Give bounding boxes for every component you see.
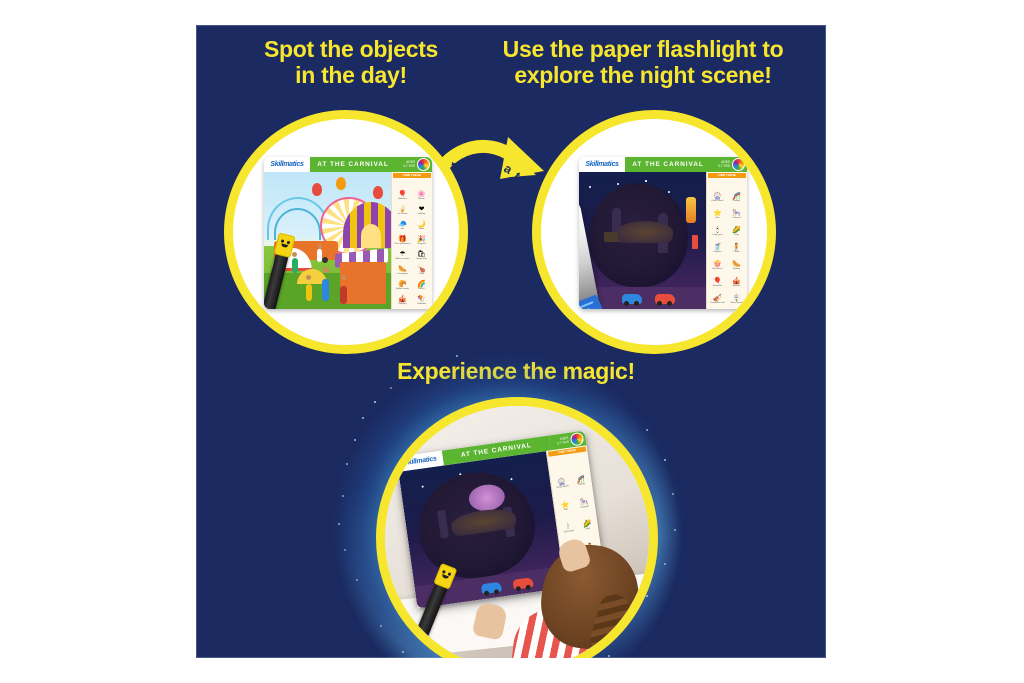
find-icon-item: ☂Ballon counter — [393, 248, 412, 263]
color-wheel-icon — [417, 158, 430, 171]
person-figure — [340, 286, 347, 304]
mat-header-day: Skillmatics AT THE CARNIVAL AGES 3-7 YRS — [264, 157, 432, 172]
hat-icon: 🧢 — [398, 221, 407, 228]
sparkle-dot — [362, 417, 364, 419]
find-icon-item: 🎻Dandelion ride — [708, 291, 727, 308]
mat-body-day: FIND THESE 🎈Balloons 🌸Flower 🍦Ice cream … — [264, 172, 432, 309]
find-these-header: FIND THESE — [393, 173, 431, 178]
find-icon-item: 🎪Spinner — [727, 274, 746, 291]
find-icon-item: 🎈Balloons — [393, 188, 412, 203]
find-icon-item: ❤Lollipop — [412, 203, 431, 218]
neon-sign — [692, 235, 698, 249]
sparkle-dot — [342, 495, 344, 497]
carnival-mat-day: Skillmatics AT THE CARNIVAL AGES 3-7 YRS — [264, 157, 432, 309]
person-head — [341, 275, 346, 280]
night-carnival-scene-photo — [398, 451, 565, 609]
find-icon-item: 🌈Bench — [412, 278, 431, 293]
kite-icon: 🪁 — [417, 296, 426, 303]
sparkle-dot — [426, 367, 428, 369]
balloon-icon — [312, 183, 322, 196]
find-icon-item: 🎠Carousel — [727, 207, 746, 224]
magic-photo-circle: Skillmatics AT THE CARNIVAL AGES 3-7 YRS — [376, 397, 658, 658]
age-label-line2: 3-7 YRS — [718, 165, 730, 169]
lollipop-icon: ❤ — [419, 206, 425, 213]
skillmatics-logo: Skillmatics — [264, 161, 310, 168]
headline-night: Use the paper flashlight to explore the … — [488, 37, 798, 89]
phone-icon: 🍿 — [713, 261, 722, 268]
balloon-icon — [373, 186, 383, 199]
find-icon-item: 🎢Railing — [570, 469, 592, 494]
age-label-line2: 3-7 YRS — [557, 440, 569, 445]
find-icon-item: 🕯Lamp post — [708, 224, 727, 241]
find-icon-item: 🌙Moon — [412, 218, 431, 233]
balloons-icon: 🎈 — [398, 191, 407, 198]
toy-car-icon — [622, 294, 642, 304]
find-these-header: FIND THESE — [708, 173, 746, 178]
sparkle-dot — [356, 579, 358, 581]
find-icon-item: 🎡Ferris wheel — [708, 190, 727, 207]
find-icon-item: 🌭Hotdog — [727, 257, 746, 274]
find-icon-item: ⭐Star — [708, 207, 727, 224]
sparkle-dot — [672, 493, 674, 495]
find-icon-item: 🥤Popcorn — [708, 241, 727, 258]
person-figure — [306, 284, 312, 301]
flower-icon: 🌸 — [417, 191, 426, 198]
moon-icon: 🌙 — [417, 221, 426, 228]
night-scene-circle: Skillmatics AT THE CARNIVAL AGES 3-7 YRS — [532, 110, 776, 354]
find-icon-item: 🥐Ballon candy — [393, 278, 412, 293]
infographic-canvas: Spot the objects in the day! Use the pap… — [0, 0, 1024, 683]
find-icon-item: 🌽Flag — [727, 224, 746, 241]
age-badge: AGES 3-7 YRS — [396, 157, 432, 172]
dandelion-ride-icon: 🎻 — [713, 295, 722, 302]
food-stall-icon — [340, 262, 386, 303]
skillmatics-logo: Skillmatics — [579, 161, 625, 168]
mat-header-night: Skillmatics AT THE CARNIVAL AGES 3-7 YRS — [579, 157, 747, 172]
flag-icon: 🍗 — [417, 266, 426, 273]
find-icon-item: 🍦Ice cream — [393, 203, 412, 218]
popcorn-icon: 🥤 — [713, 244, 722, 251]
flag-icon: 🌽 — [732, 227, 741, 234]
sparkle-dot — [408, 375, 410, 377]
sparkle-dot — [374, 401, 376, 403]
find-icon-item: 🎠Carousel — [573, 491, 595, 516]
find-icon-item: 🎪Shopper — [393, 293, 412, 308]
sparkle-dot — [674, 529, 676, 531]
person-head — [318, 244, 323, 249]
find-these-icon-list-night: FIND THESE 🎡Ferris wheel 🎢Railing ⭐Star … — [706, 172, 747, 309]
bench-icon: 🌈 — [417, 281, 426, 288]
person-figure — [292, 258, 298, 273]
find-icon-item: 🍿Hot phone — [708, 257, 727, 274]
color-wheel-icon — [732, 158, 745, 171]
clown-icon: 🧍 — [732, 244, 741, 251]
find-icon-item: 🎁Pick up balloons — [393, 233, 412, 248]
find-icon-item: 🌸Flower — [412, 188, 431, 203]
toy-car-icon — [480, 581, 501, 594]
hotdog-icon: 🌭 — [732, 261, 741, 268]
find-icon-item: 🎉Congrats — [412, 233, 431, 248]
sparkle-dot — [390, 387, 392, 389]
lifestyle-photo: Skillmatics AT THE CARNIVAL AGES 3-7 YRS — [385, 406, 649, 658]
trampoline-icon: 🌭 — [398, 266, 407, 273]
shopper-icon: 🎪 — [398, 296, 407, 303]
toy-car-icon — [655, 294, 675, 304]
gift-icon: 🎁 — [398, 236, 407, 243]
railing-icon: 🎢 — [732, 193, 741, 200]
ice-cream-icon: 🍦 — [398, 206, 407, 213]
sparkle-dot — [664, 563, 666, 565]
swing-ride-icon: 🛍 — [417, 251, 426, 258]
spinner-icon: 🎪 — [732, 278, 741, 285]
candy-icon: 🥐 — [398, 281, 407, 288]
pen-face — [439, 570, 452, 582]
mat-title: AT THE CARNIVAL — [310, 157, 396, 172]
headline-day: Spot the objects in the day! — [226, 37, 476, 89]
lamp-post-icon: 🕯 — [717, 227, 719, 234]
fireworks-icon: 🎈 — [713, 278, 722, 285]
sparkle-dot — [354, 439, 356, 441]
find-icon-item: 🧢Hat — [393, 218, 412, 233]
sparkle-dot — [380, 625, 382, 627]
find-icon-item: 🎢Railing — [727, 190, 746, 207]
find-icon-item: 🍗Flag — [412, 263, 431, 278]
day-carnival-scene — [264, 172, 391, 309]
age-badge: AGES 3-7 YRS — [711, 157, 747, 172]
sparkle-dot — [346, 463, 348, 465]
mat-body-night: FIND THESE 🎡Ferris wheel 🎢Railing ⭐Star … — [579, 172, 747, 309]
age-label-line2: 3-7 YRS — [403, 165, 415, 169]
neon-sign — [686, 197, 696, 223]
mat-title: AT THE CARNIVAL — [625, 157, 711, 172]
sparkle-dot — [344, 549, 346, 551]
person-figure — [322, 279, 329, 301]
pen-face — [279, 239, 292, 249]
person-figure — [317, 249, 322, 262]
day-scene-circle: Skillmatics AT THE CARNIVAL AGES 3-7 YRS — [224, 110, 468, 354]
carnival-mat-night: Skillmatics AT THE CARNIVAL AGES 3-7 YRS — [579, 157, 747, 309]
find-icon-item: 🎈Fireworks — [708, 274, 727, 291]
carousel-dark — [617, 221, 673, 243]
find-icon-item: 🌽Flag — [576, 514, 598, 539]
find-icon-item: 🪧Glass board — [727, 291, 746, 308]
find-icon-item: 🧍Clown — [727, 241, 746, 258]
find-icon-item: 🪁Umbrella — [412, 293, 431, 308]
sparkle-dot — [664, 459, 666, 461]
find-icon-item: 🌭Trampoline — [393, 263, 412, 278]
sparkle-dot — [456, 355, 458, 357]
find-these-icon-list-day: FIND THESE 🎈Balloons 🌸Flower 🍦Ice cream … — [391, 172, 432, 309]
find-icon-item: 🛍Swing ride — [412, 248, 431, 263]
night-carnival-scene — [579, 172, 706, 309]
glass-board-icon: 🪧 — [732, 295, 741, 302]
sparkle-dot — [338, 523, 340, 525]
color-wheel-icon — [570, 432, 585, 447]
party-icon: 🎉 — [417, 236, 426, 243]
umbrella-counter-icon: ☂ — [399, 251, 405, 258]
navy-panel: Spot the objects in the day! Use the pap… — [196, 25, 826, 658]
